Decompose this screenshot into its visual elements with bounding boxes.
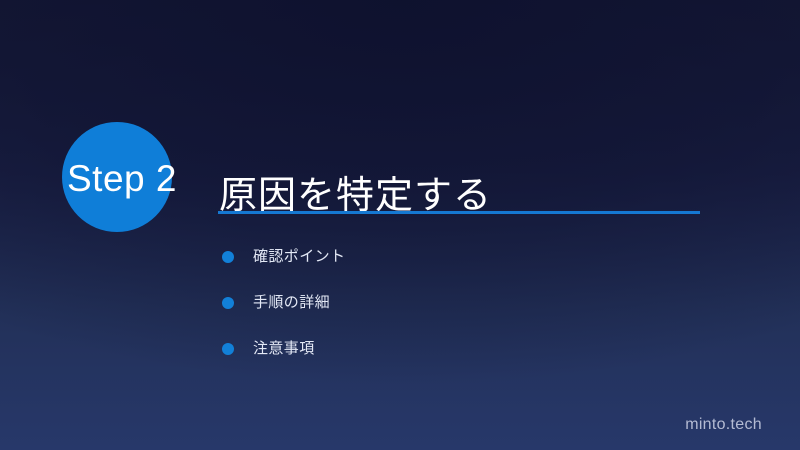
slide-canvas: Step 2 原因を特定する 確認ポイント 手順の詳細 注意事項 minto.t…	[0, 0, 800, 450]
list-item: 注意事項	[220, 326, 345, 372]
title-divider	[218, 211, 700, 214]
footer-brand-watermark: minto.tech	[685, 416, 762, 434]
bullet-dot-icon	[222, 297, 234, 309]
list-item-label: 手順の詳細	[253, 293, 330, 313]
step-badge-label: Step 2	[46, 155, 198, 203]
bullet-dot-icon	[222, 343, 234, 355]
list-item-label: 注意事項	[253, 339, 315, 359]
list-item-label: 確認ポイント	[253, 247, 345, 267]
list-item: 確認ポイント	[220, 234, 345, 280]
bullet-list: 確認ポイント 手順の詳細 注意事項	[220, 234, 345, 372]
bullet-dot-icon	[222, 251, 234, 263]
list-item: 手順の詳細	[220, 280, 345, 326]
